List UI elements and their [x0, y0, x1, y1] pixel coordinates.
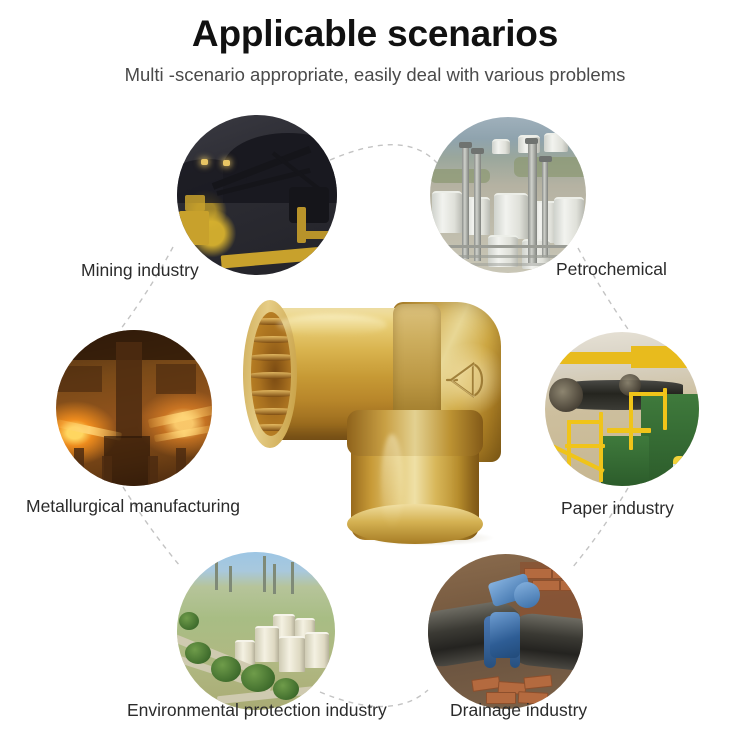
scenario-photo-mining — [177, 115, 337, 275]
paper-scene — [545, 332, 699, 486]
scenario-photo-drainage — [428, 554, 583, 709]
scenario-photo-petrochemical — [430, 117, 586, 273]
vertical-arm-cast-band — [347, 410, 483, 456]
product-image-brass-elbow — [243, 298, 508, 546]
scenario-photo-paper — [545, 332, 699, 486]
metallurgical-scene — [56, 330, 212, 486]
petrochemical-scene — [430, 117, 586, 273]
mining-scene — [177, 115, 337, 275]
drainage-scene — [428, 554, 583, 709]
scenario-mining[interactable]: Mining industry — [177, 115, 337, 275]
scenario-label-metallurgical: Metallurgical manufacturing — [26, 496, 240, 516]
highlight-vertical — [381, 434, 403, 530]
scenario-metallurgical[interactable]: Metallurgical manufacturing — [56, 330, 212, 486]
scenario-label-drainage: Drainage industry — [450, 700, 587, 720]
scenario-paper[interactable]: Paper industry — [545, 332, 699, 486]
page-title: Applicable scenarios — [0, 0, 750, 55]
page-subtitle: Multi -scenario appropriate, easily deal… — [0, 55, 750, 86]
scenario-label-paper: Paper industry — [561, 498, 674, 518]
scenario-photo-environmental — [177, 552, 335, 710]
scenario-environmental[interactable]: Environmental protection industry — [177, 552, 335, 710]
scenario-label-mining: Mining industry — [81, 260, 199, 280]
scenario-petrochemical[interactable]: Petrochemical — [430, 117, 586, 273]
vertical-socket-rim — [347, 504, 483, 544]
connector-top — [330, 145, 437, 163]
highlight-horizontal — [277, 314, 387, 336]
environmental-scene — [177, 552, 335, 710]
brand-logo-embossed-icon — [439, 350, 491, 410]
scenario-label-environmental: Environmental protection industry — [127, 700, 387, 720]
scenario-photo-metallurgical — [56, 330, 212, 486]
header: Applicable scenarios Multi -scenario app… — [0, 0, 750, 86]
scenario-label-petrochemical: Petrochemical — [556, 259, 667, 279]
scenario-drainage[interactable]: Drainage industry — [428, 554, 583, 709]
